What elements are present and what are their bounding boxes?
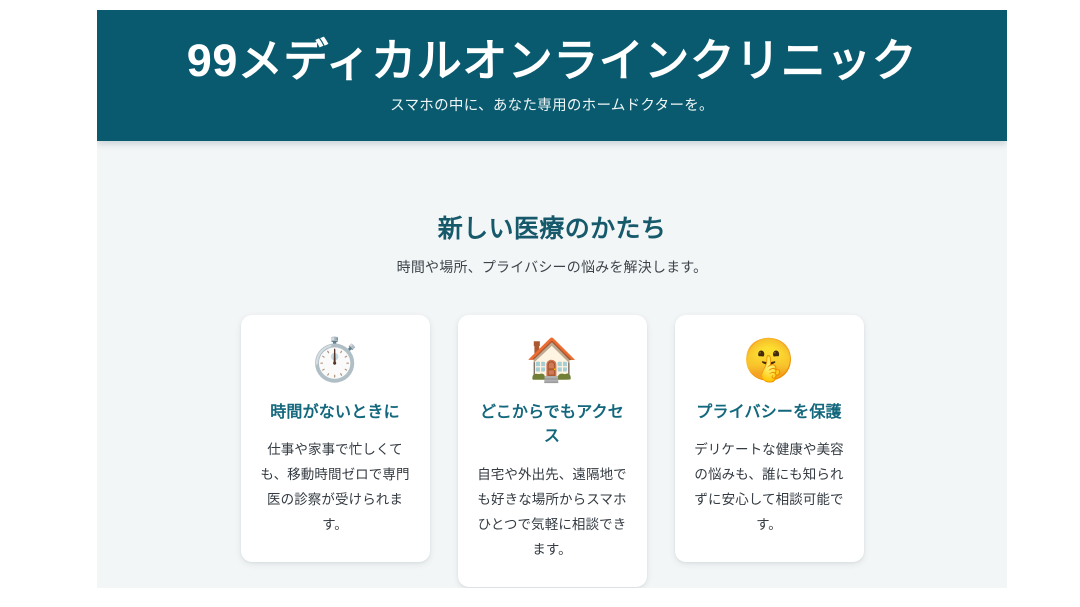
site-tagline: スマホの中に、あなた専用のホームドクターを。 bbox=[117, 96, 987, 116]
features-section: 新しい医療のかたち 時間や場所、プライバシーの悩みを解決します。 ⏱️ 時間がな… bbox=[97, 141, 1007, 587]
feature-card[interactable]: ⏱️ 時間がないときに 仕事や家事で忙しくても、移動時間ゼロで専門医の診察が受け… bbox=[241, 315, 430, 563]
feature-card-body: 自宅や外出先、遠隔地でも好きな場所からスマホひとつで気軽に相談できます。 bbox=[475, 463, 630, 563]
house-icon: 🏠 bbox=[475, 337, 630, 387]
feature-card[interactable]: 🏠 どこからでもアクセス 自宅や外出先、遠隔地でも好きな場所からスマホひとつで気… bbox=[458, 315, 647, 587]
page-root: 99メディカルオンラインクリニック スマホの中に、あなた専用のホームドクターを。… bbox=[0, 0, 1080, 607]
feature-card-grid: ⏱️ 時間がないときに 仕事や家事で忙しくても、移動時間ゼロで専門医の診察が受け… bbox=[97, 315, 1007, 587]
hero-header: 99メディカルオンラインクリニック スマホの中に、あなた専用のホームドクターを。 bbox=[97, 10, 1007, 141]
stopwatch-icon: ⏱️ bbox=[258, 337, 413, 387]
shushing-face-icon: 🤫 bbox=[692, 337, 847, 387]
section-heading: 新しい医療のかたち bbox=[97, 213, 1007, 246]
feature-card[interactable]: 🤫 プライバシーを保護 デリケートな健康や美容の悩みも、誰にも知られずに安心して… bbox=[675, 315, 864, 563]
feature-card-body: 仕事や家事で忙しくても、移動時間ゼロで専門医の診察が受けられます。 bbox=[258, 438, 413, 538]
feature-card-title: プライバシーを保護 bbox=[692, 401, 847, 426]
section-subheading: 時間や場所、プライバシーの悩みを解決します。 bbox=[97, 257, 1007, 277]
site-title: 99メディカルオンラインクリニック bbox=[117, 36, 987, 86]
feature-card-title: 時間がないときに bbox=[258, 401, 413, 426]
content-column: 99メディカルオンラインクリニック スマホの中に、あなた専用のホームドクターを。… bbox=[97, 10, 1007, 588]
feature-card-title: どこからでもアクセス bbox=[475, 401, 630, 451]
feature-card-body: デリケートな健康や美容の悩みも、誰にも知られずに安心して相談可能です。 bbox=[692, 438, 847, 538]
